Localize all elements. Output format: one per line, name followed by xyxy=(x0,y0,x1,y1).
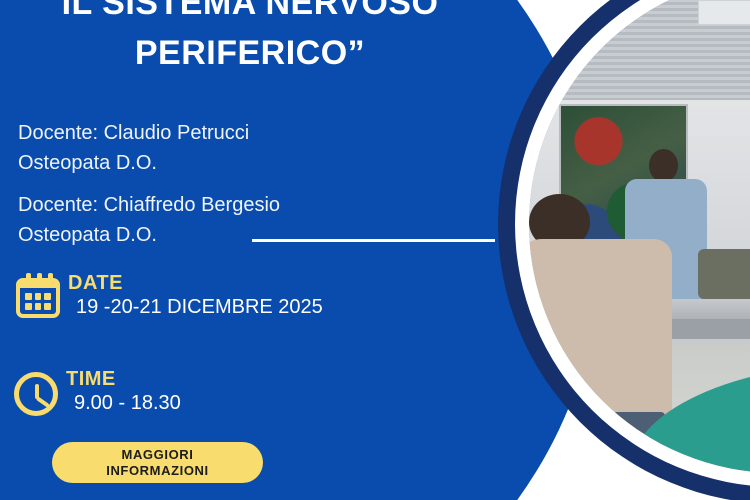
teacher-qualification: Osteopata D.O. xyxy=(18,148,458,178)
calendar-icon xyxy=(14,272,62,320)
time-value: 9.00 - 18.30 xyxy=(66,390,181,416)
photo-person-lying xyxy=(698,249,750,299)
cta-line-2: INFORMAZIONI xyxy=(52,463,263,479)
divider-line xyxy=(252,239,495,242)
teacher-name: Docente: Claudio Petrucci xyxy=(18,118,458,148)
time-label: TIME xyxy=(66,368,181,390)
clock-icon xyxy=(12,368,60,416)
course-photo xyxy=(529,0,750,473)
cta-line-1: MAGGIORI xyxy=(52,447,263,463)
title-line-1: IL SISTEMA NERVOSO xyxy=(62,0,439,22)
date-block: DATE 19 -20-21 DICEMBRE 2025 xyxy=(14,272,323,320)
event-poster: IL SISTEMA NERVOSO PERIFERICO” Docente: … xyxy=(0,0,750,500)
date-label: DATE xyxy=(68,272,323,294)
teacher-qualification: Osteopata D.O. xyxy=(18,220,458,250)
photo-ceiling-panel xyxy=(698,0,750,25)
teacher-entry: Docente: Claudio Petrucci Osteopata D.O. xyxy=(18,118,458,178)
more-info-button[interactable]: MAGGIORI INFORMAZIONI xyxy=(52,442,263,483)
time-block: TIME 9.00 - 18.30 xyxy=(12,368,181,416)
teacher-name: Docente: Chiaffredo Bergesio xyxy=(18,190,458,220)
date-value: 19 -20-21 DICEMBRE 2025 xyxy=(68,294,323,320)
poster-title: IL SISTEMA NERVOSO PERIFERICO” xyxy=(0,0,500,78)
photo-circle xyxy=(498,0,750,500)
title-line-2: PERIFERICO” xyxy=(0,28,500,78)
